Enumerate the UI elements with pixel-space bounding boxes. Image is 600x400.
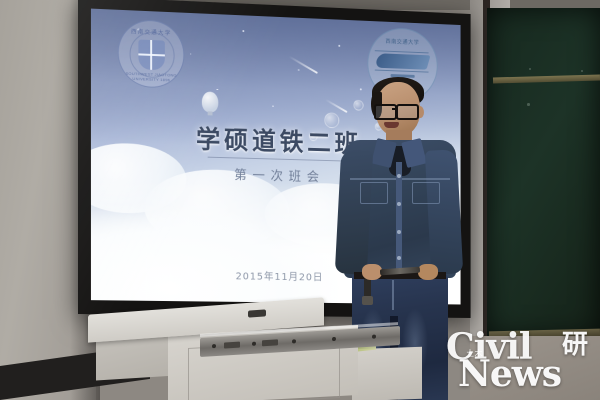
mouth [384, 122, 399, 128]
jacket-pocket-right [412, 182, 440, 204]
drawer-screw [212, 344, 216, 348]
keys-icon [364, 278, 371, 302]
arm-left [335, 149, 373, 275]
jacket-button [397, 256, 401, 260]
eyeglasses-icon [374, 104, 397, 120]
university-seal: 西南交通大学 SOUTHWEST JIAOTONG UNIVERSITY 189… [118, 18, 185, 88]
seal-shield [138, 39, 164, 70]
podium-right-panel [352, 347, 422, 400]
hand-right [418, 264, 438, 280]
drawer-screw [372, 334, 376, 338]
eyeglasses-icon [396, 104, 419, 120]
podium-control-knob [248, 309, 266, 317]
classroom-photo: 西南交通大学 SOUTHWEST JIAOTONG UNIVERSITY 189… [0, 0, 600, 400]
jeans-fly [392, 280, 394, 310]
drawer-screw [332, 337, 336, 341]
blackboard [487, 8, 600, 338]
jacket-button [397, 230, 401, 234]
chalk-speck [529, 68, 531, 70]
arm-right [425, 149, 463, 275]
star-icon [298, 69, 299, 71]
train-icon [374, 53, 430, 69]
train-line [374, 69, 428, 72]
drawer-screw [252, 342, 256, 346]
jacket-button [397, 174, 401, 178]
eyeglasses-bridge [392, 108, 397, 110]
drawer-slot [262, 339, 278, 346]
emblem-title: 西南交通大学 [368, 36, 436, 47]
hot-air-balloon-icon [201, 91, 217, 112]
chalk-speck [581, 70, 583, 72]
chalk-speck [527, 103, 530, 106]
jacket-pocket-left [360, 182, 388, 204]
star-icon [272, 105, 273, 107]
wall-below-blackboard [470, 336, 600, 400]
drawer-slot [224, 342, 240, 349]
hand-left [362, 264, 382, 280]
drawer-screw [292, 339, 296, 343]
jacket-button [397, 202, 401, 206]
star-icon [243, 30, 245, 32]
